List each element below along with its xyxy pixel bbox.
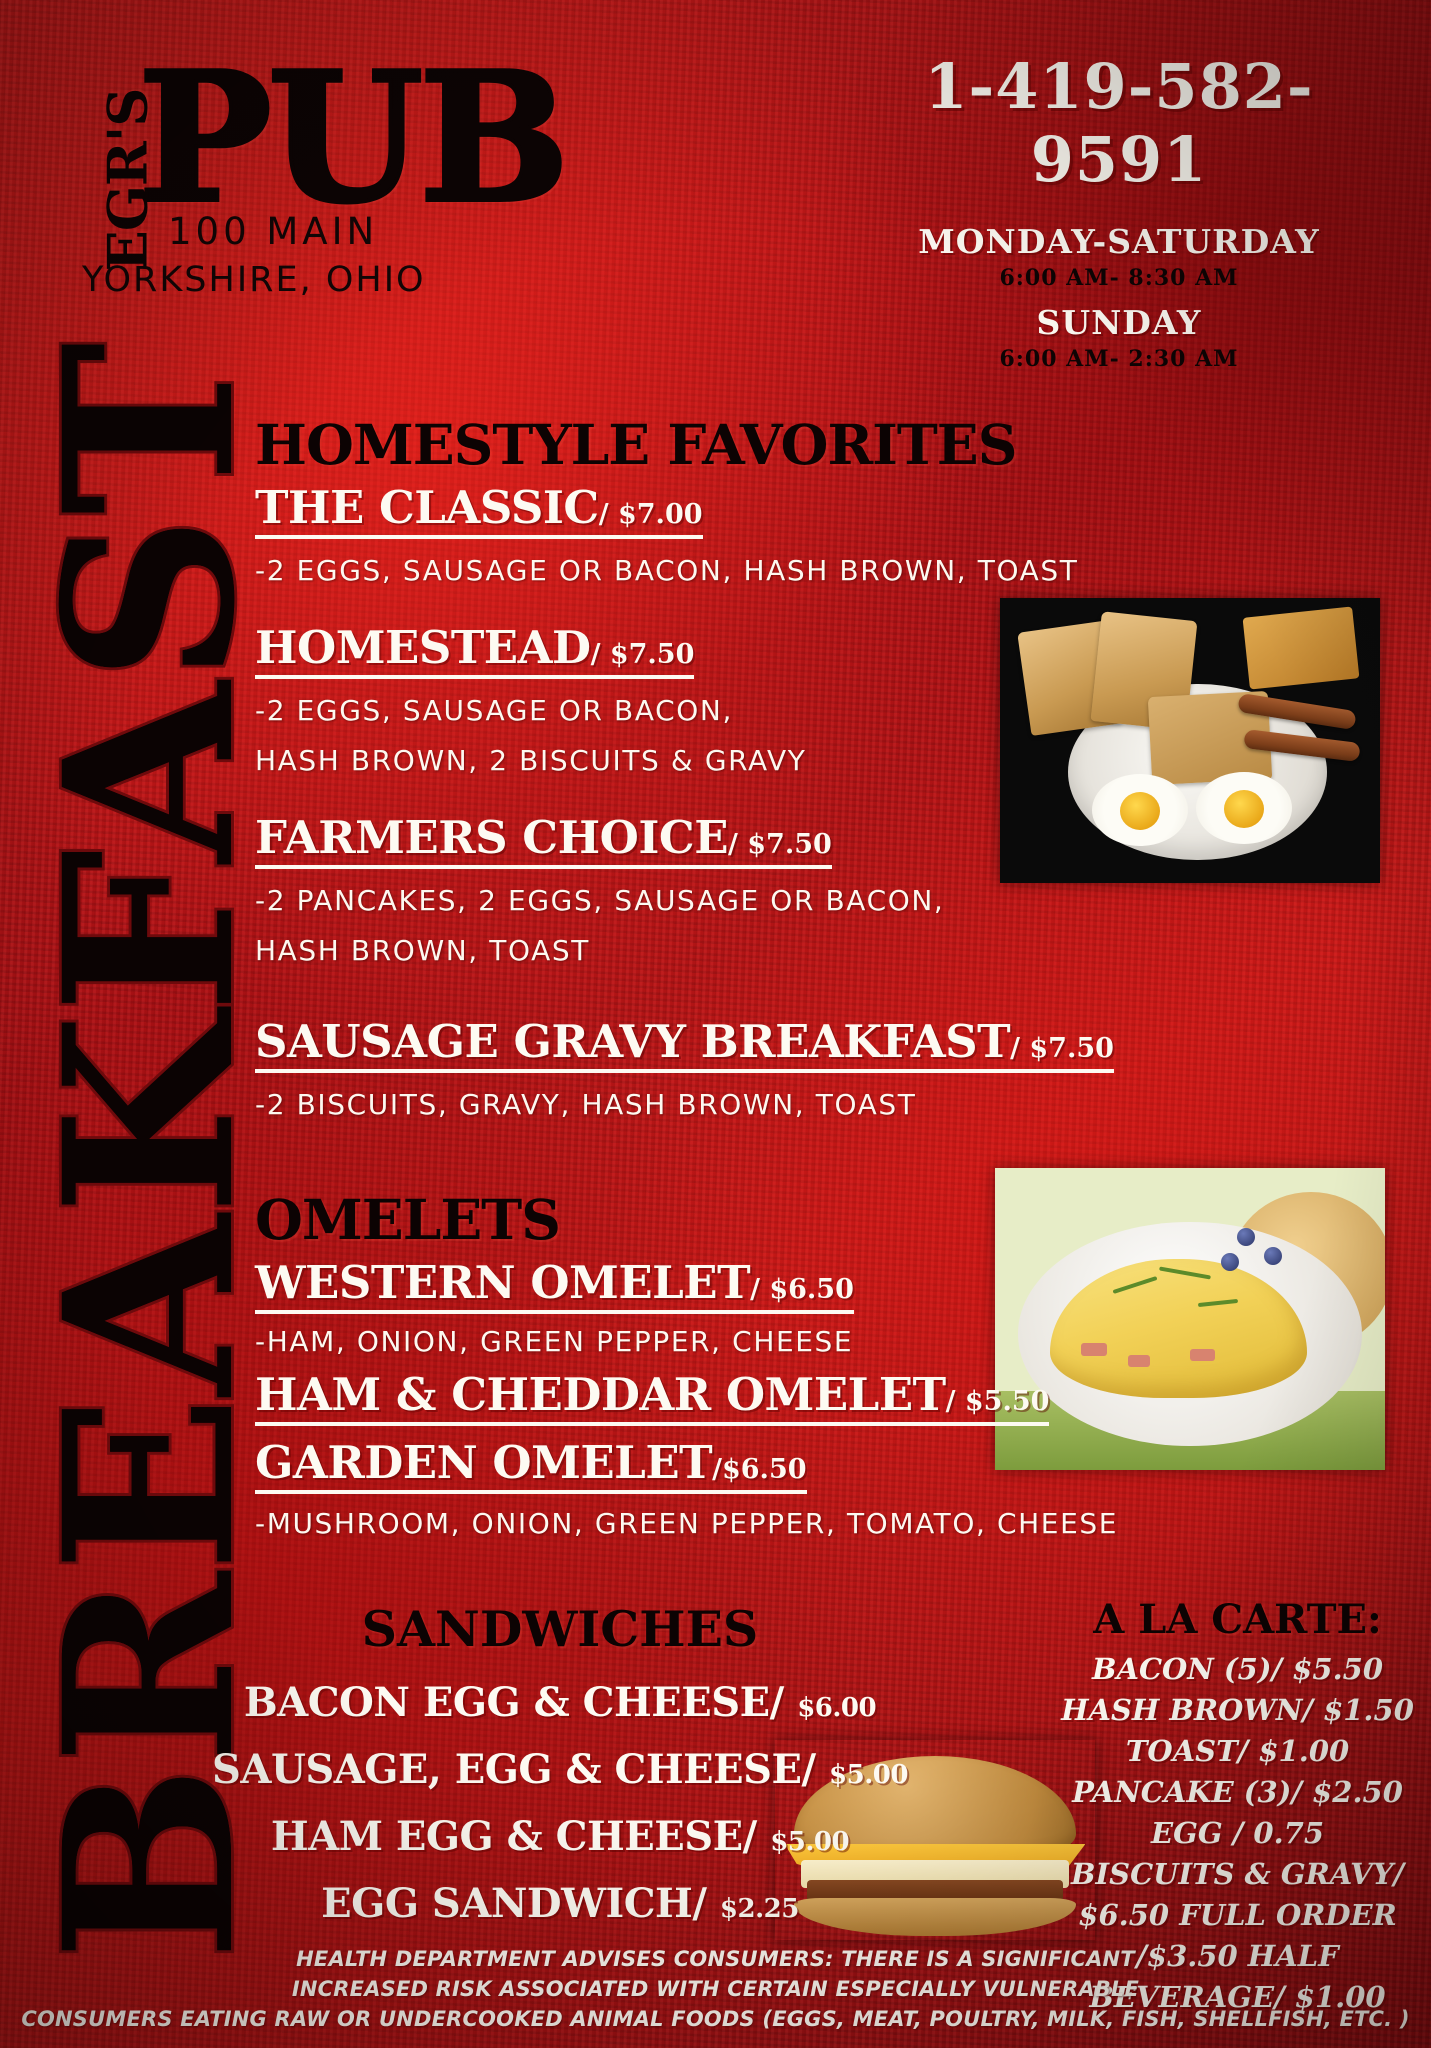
menu-item-title-row: FARMERS CHOICE/ $7.50: [255, 811, 832, 869]
menu-item-garden-omelet: GARDEN OMELET/$6.50 -MUSHROOM, ONION, GR…: [255, 1436, 1405, 1546]
disclaimer-line-3: CONSUMERS EATING RAW OR UNDERCOOKED ANIM…: [0, 2004, 1431, 2034]
alacarte-item-egg: EGG / 0.75: [1060, 1813, 1415, 1854]
restaurant-logo: EGR'S PUB 100 MAIN YORKSHIRE, OHIO: [60, 52, 580, 302]
hours-days-sunday: SUNDAY: [859, 303, 1379, 342]
menu-item-title-row: SAUSAGE GRAVY BREAKFAST/ $7.50: [255, 1015, 1114, 1073]
disclaimer-line-1: HEALTH DEPARTMENT ADVISES CONSUMERS: THE…: [0, 1944, 1431, 1974]
alacarte-item-bacon: BACON (5)/ $5.50: [1060, 1649, 1415, 1690]
disclaimer-line-2: INCREASED RISK ASSOCIATED WITH CERTAIN E…: [0, 1974, 1431, 2004]
menu-item-price: / $6.50: [750, 1274, 854, 1305]
menu-item-farmers-choice: FARMERS CHOICE/ $7.50 -2 PANCAKES, 2 EGG…: [255, 811, 1405, 973]
alacarte-item-biscuits-gravy: BISCUITS & GRAVY/: [1060, 1854, 1415, 1895]
sandwich-item-price: $5.00: [770, 1827, 849, 1857]
section-sandwiches: SANDWICHES BACON EGG & CHEESE/ $6.00 SAU…: [210, 1600, 910, 1940]
alacarte-item-pancake: PANCAKE (3)/ $2.50: [1060, 1772, 1415, 1813]
menu-item-name: THE CLASSIC: [255, 481, 599, 534]
menu-item-title-row: HAM & CHEDDAR OMELET/ $5.50: [255, 1368, 1049, 1426]
menu-item-name: FARMERS CHOICE: [255, 811, 728, 864]
menu-item-description: -2 EGGS, SAUSAGE OR BACON,: [255, 689, 1405, 733]
alacarte-item-biscuits-gravy-full: $6.50 FULL ORDER: [1060, 1895, 1415, 1936]
address-city-state: YORKSHIRE, OHIO: [82, 260, 426, 300]
section-heading-omelets: OMELETS: [255, 1187, 1405, 1252]
hours-time-weekday: 6:00 AM- 8:30 AM: [859, 265, 1379, 291]
menu-body: HOMESTYLE FAVORITES THE CLASSIC/ $7.00 -…: [255, 412, 1405, 1552]
sandwich-item-price: $5.00: [829, 1760, 908, 1790]
sandwich-item-name: SAUSAGE, EGG & CHEESE/: [212, 1746, 816, 1793]
menu-item-name: HOMESTEAD: [255, 621, 591, 674]
menu-item-homestead: HOMESTEAD/ $7.50 -2 EGGS, SAUSAGE OR BAC…: [255, 621, 1405, 783]
alacarte-item-toast: TOAST/ $1.00: [1060, 1731, 1415, 1772]
alacarte-item-hash-brown: HASH BROWN/ $1.50: [1060, 1690, 1415, 1731]
sandwich-item-name: EGG SANDWICH/: [321, 1880, 706, 1927]
menu-poster: EGR'S PUB 100 MAIN YORKSHIRE, OHIO 1-419…: [0, 0, 1431, 2048]
sandwich-item-ham-egg-cheese: HAM EGG & CHEESE/ $5.00: [210, 1806, 910, 1873]
menu-item-price: / $7.50: [728, 829, 832, 860]
sandwich-item-egg-sandwich: EGG SANDWICH/ $2.25: [210, 1873, 910, 1940]
menu-item-price: / $7.50: [1010, 1033, 1114, 1064]
hours-of-operation: MONDAY-SATURDAY 6:00 AM- 8:30 AM SUNDAY …: [859, 222, 1379, 372]
menu-item-name: WESTERN OMELET: [255, 1256, 750, 1309]
menu-item-title-row: WESTERN OMELET/ $6.50: [255, 1256, 854, 1314]
phone-number[interactable]: 1-419-582-9591: [859, 50, 1379, 196]
menu-item-title-row: GARDEN OMELET/$6.50: [255, 1436, 807, 1494]
hours-days-weekday: MONDAY-SATURDAY: [859, 222, 1379, 261]
menu-item-name: GARDEN OMELET: [255, 1436, 712, 1489]
menu-item-price: / $5.50: [946, 1386, 1050, 1417]
menu-item-description: -2 PANCAKES, 2 EGGS, SAUSAGE OR BACON,: [255, 879, 1405, 923]
menu-item-description: HASH BROWN, TOAST: [255, 929, 1405, 973]
menu-item-title-row: THE CLASSIC/ $7.00: [255, 481, 703, 539]
contact-info: 1-419-582-9591 MONDAY-SATURDAY 6:00 AM- …: [859, 50, 1379, 384]
section-homestyle-favorites: HOMESTYLE FAVORITES THE CLASSIC/ $7.00 -…: [255, 412, 1405, 1127]
menu-item-the-classic: THE CLASSIC/ $7.00 -2 EGGS, SAUSAGE OR B…: [255, 481, 1405, 593]
menu-item-western-omelet: WESTERN OMELET/ $6.50 -HAM, ONION, GREEN…: [255, 1256, 1405, 1364]
sandwich-item-sausage-egg-cheese: SAUSAGE, EGG & CHEESE/ $5.00: [210, 1739, 910, 1806]
menu-item-sausage-gravy-breakfast: SAUSAGE GRAVY BREAKFAST/ $7.50 -2 BISCUI…: [255, 1015, 1405, 1127]
sandwich-item-price: $6.00: [797, 1693, 876, 1723]
menu-item-title-row: HOMESTEAD/ $7.50: [255, 621, 694, 679]
section-heading-homestyle: HOMESTYLE FAVORITES: [255, 412, 1405, 477]
menu-item-description: -2 BISCUITS, GRAVY, HASH BROWN, TOAST: [255, 1083, 1405, 1127]
logo-main-text: PUB: [138, 58, 566, 218]
menu-item-ham-cheddar-omelet: HAM & CHEDDAR OMELET/ $5.50: [255, 1368, 1405, 1432]
sandwich-item-name: HAM EGG & CHEESE/: [271, 1813, 757, 1860]
hours-time-sunday: 6:00 AM- 2:30 AM: [859, 346, 1379, 372]
menu-item-price: /$6.50: [712, 1454, 806, 1485]
menu-item-price: / $7.50: [591, 639, 695, 670]
menu-item-description: -MUSHROOM, ONION, GREEN PEPPER, TOMATO, …: [255, 1502, 1405, 1546]
sandwich-item-price: $2.25: [720, 1894, 799, 1924]
health-disclaimer: HEALTH DEPARTMENT ADVISES CONSUMERS: THE…: [0, 1944, 1431, 2034]
address-street: 100 MAIN: [168, 210, 378, 253]
section-omelets: OMELETS WESTERN OMELET/ $6.50 -HAM, ONIO…: [255, 1187, 1405, 1546]
menu-item-price: / $7.00: [599, 499, 703, 530]
menu-item-name: SAUSAGE GRAVY BREAKFAST: [255, 1015, 1010, 1068]
sandwich-item-bacon-egg-cheese: BACON EGG & CHEESE/ $6.00: [210, 1672, 910, 1739]
section-heading-sandwiches: SANDWICHES: [210, 1600, 910, 1658]
sandwich-item-name: BACON EGG & CHEESE/: [244, 1679, 784, 1726]
menu-item-description: -2 EGGS, SAUSAGE OR BACON, HASH BROWN, T…: [255, 549, 1405, 593]
menu-item-description: HASH BROWN, 2 BISCUITS & GRAVY: [255, 739, 1405, 783]
menu-item-name: HAM & CHEDDAR OMELET: [255, 1368, 946, 1421]
menu-item-description: -HAM, ONION, GREEN PEPPER, CHEESE: [255, 1320, 1405, 1364]
section-heading-a-la-carte: A LA CARTE:: [1060, 1596, 1415, 1643]
